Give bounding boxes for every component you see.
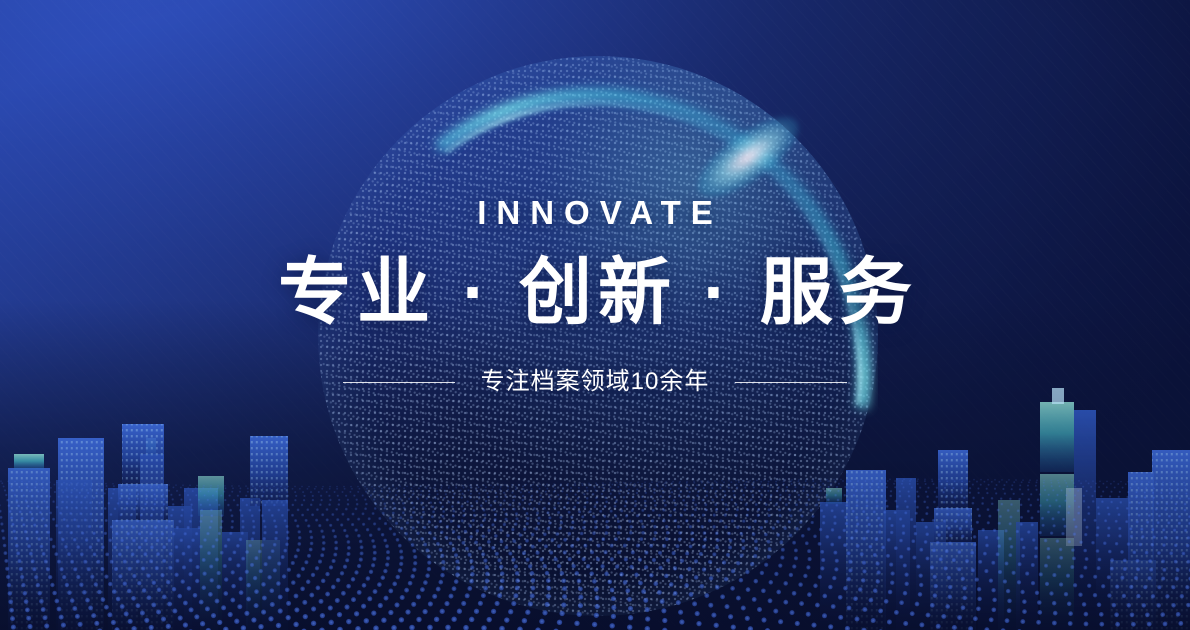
- banner-subtitle: 专注档案领域10余年: [481, 366, 710, 398]
- banner-eyebrow: INNOVATE: [0, 194, 1190, 232]
- banner-text-block: INNOVATE 专业 · 创新 · 服务 专注档案领域10余年: [0, 0, 1190, 630]
- banner-subtitle-row: 专注档案领域10余年: [0, 366, 1190, 398]
- divider-line-right: [735, 382, 847, 383]
- banner-headline: 专业 · 创新 · 服务: [0, 249, 1190, 337]
- hero-banner: INNOVATE 专业 · 创新 · 服务 专注档案领域10余年: [0, 0, 1190, 630]
- divider-line-left: [343, 382, 455, 383]
